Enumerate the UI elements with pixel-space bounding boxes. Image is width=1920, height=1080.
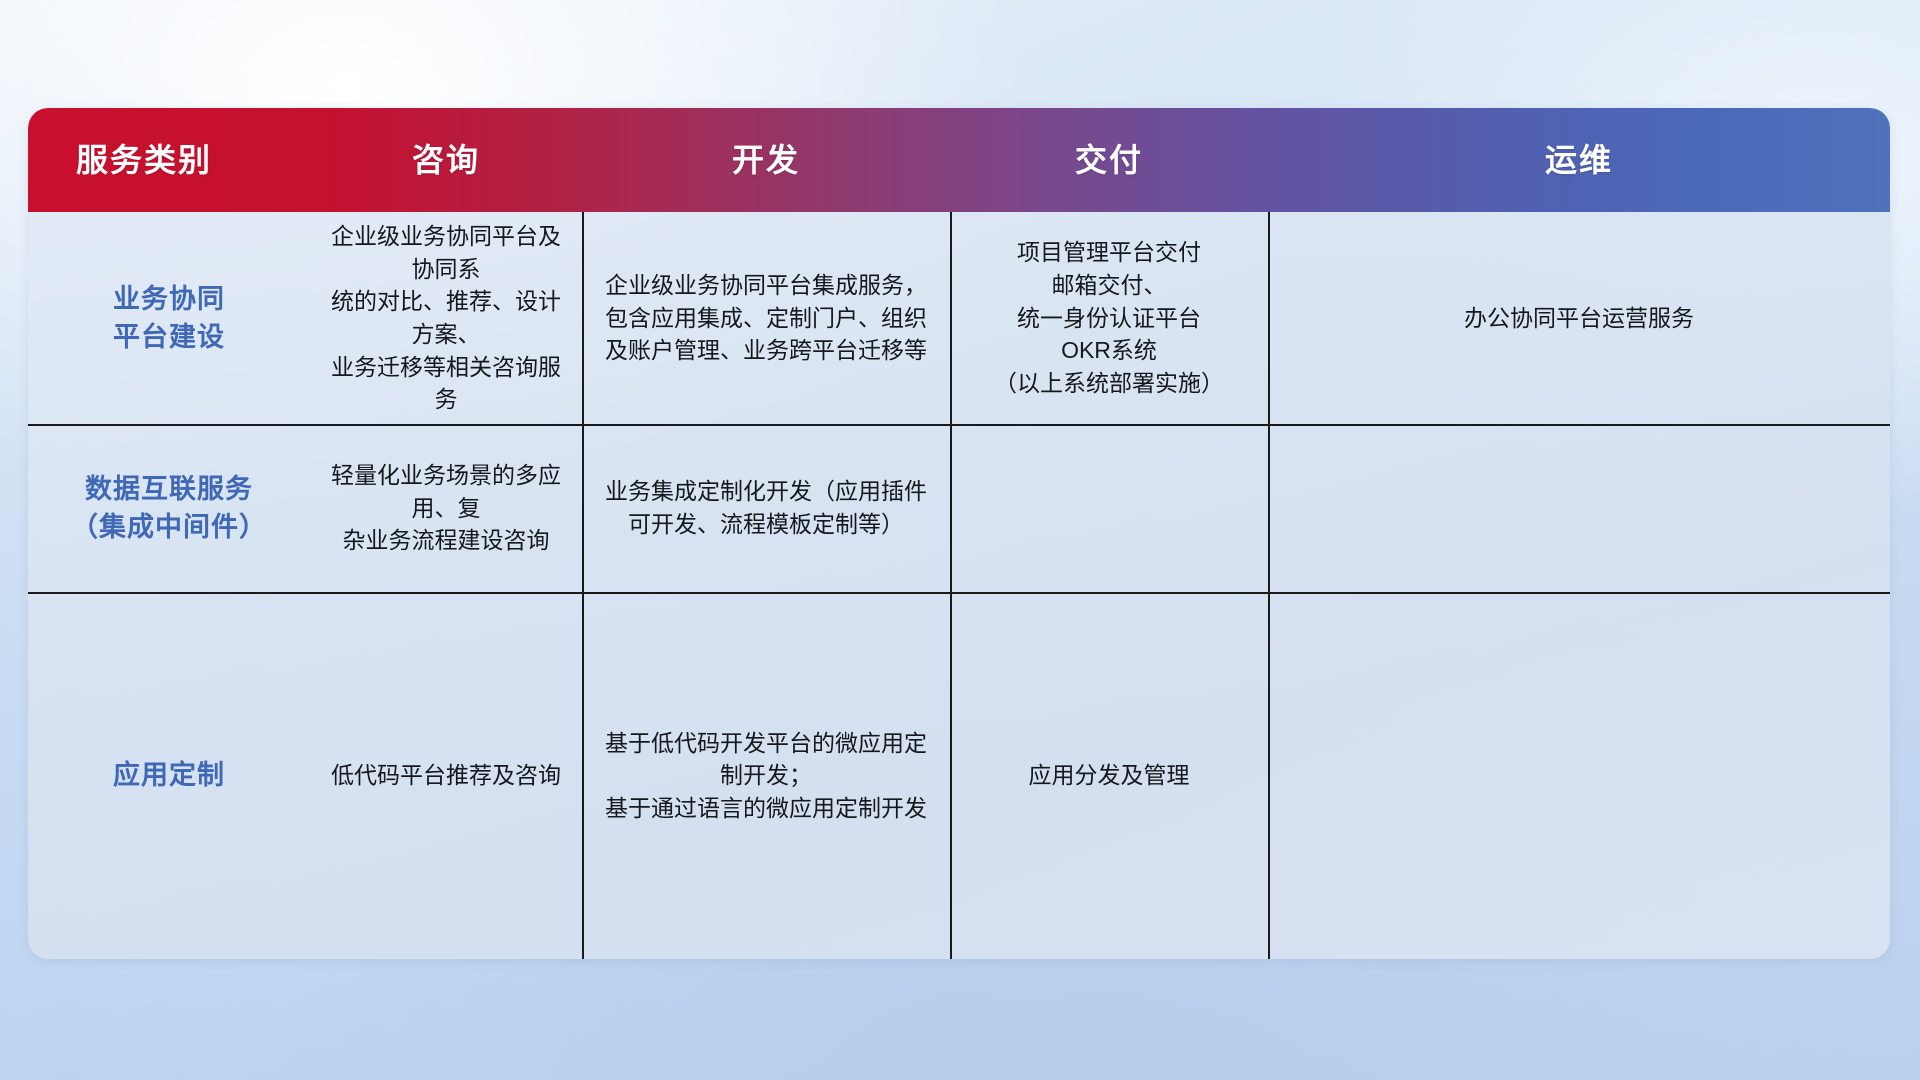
cell-consulting: 企业级业务协同平台及协同系 统的对比、推荐、设计方案、 业务迁移等相关咨询服务 (310, 212, 582, 424)
row-category-label: 数据互联服务 （集成中间件） (28, 424, 310, 592)
cell-delivery (950, 424, 1268, 592)
cell-operations (1268, 592, 1890, 959)
column-header-delivery: 交付 (950, 144, 1268, 176)
table-header-row: 服务类别 咨询 开发 交付 运维 (28, 108, 1890, 212)
row-divider-1 (28, 424, 1890, 426)
table-body: 业务协同 平台建设 企业级业务协同平台及协同系 统的对比、推荐、设计方案、 业务… (28, 212, 1890, 959)
column-divider-1 (582, 212, 584, 959)
column-header-consulting: 咨询 (310, 144, 582, 176)
cell-development: 业务集成定制化开发（应用插件 可开发、流程模板定制等） (582, 424, 950, 592)
cell-delivery: 项目管理平台交付 邮箱交付、 统一身份认证平台 OKR系统 （以上系统部署实施） (950, 212, 1268, 424)
table-row: 业务协同 平台建设 企业级业务协同平台及协同系 统的对比、推荐、设计方案、 业务… (28, 212, 1890, 424)
cell-development: 基于低代码开发平台的微应用定 制开发； 基于通过语言的微应用定制开发 (582, 592, 950, 959)
column-divider-3 (1268, 212, 1270, 959)
column-header-operations: 运维 (1268, 144, 1890, 176)
cell-operations (1268, 424, 1890, 592)
service-matrix-card: 服务类别 咨询 开发 交付 运维 业务协同 平台建设 企业级业务协同平台及协同系… (28, 108, 1890, 959)
column-divider-2 (950, 212, 952, 959)
row-divider-2 (28, 592, 1890, 594)
cell-consulting: 轻量化业务场景的多应用、复 杂业务流程建设咨询 (310, 424, 582, 592)
cell-consulting: 低代码平台推荐及咨询 (310, 592, 582, 959)
cell-development: 企业级业务协同平台集成服务， 包含应用集成、定制门户、组织 及账户管理、业务跨平… (582, 212, 950, 424)
row-category-label: 业务协同 平台建设 (28, 212, 310, 424)
cell-operations: 办公协同平台运营服务 (1268, 212, 1890, 424)
column-header-service-category: 服务类别 (28, 144, 310, 176)
column-header-development: 开发 (582, 144, 950, 176)
table-row: 数据互联服务 （集成中间件） 轻量化业务场景的多应用、复 杂业务流程建设咨询 业… (28, 424, 1890, 592)
table-row: 应用定制 低代码平台推荐及咨询 基于低代码开发平台的微应用定 制开发； 基于通过… (28, 592, 1890, 959)
cell-delivery: 应用分发及管理 (950, 592, 1268, 959)
row-category-label: 应用定制 (28, 592, 310, 959)
